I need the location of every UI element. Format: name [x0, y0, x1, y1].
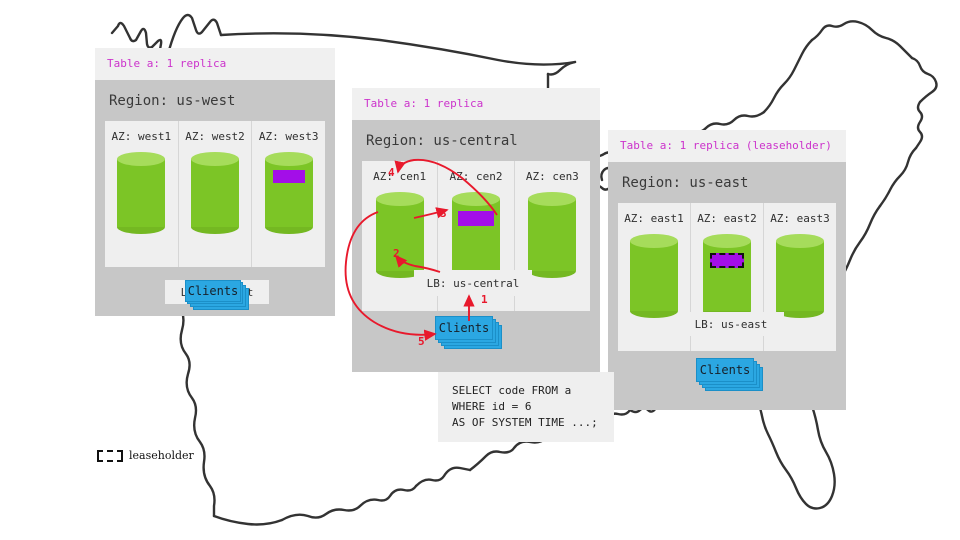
- lb-label-us-central: LB: us-central: [427, 277, 520, 290]
- region-title-us-east: Region: us-east: [608, 162, 846, 203]
- clients-label-us-west: Clients: [188, 284, 239, 298]
- az-label-cen2: AZ: cen2: [450, 170, 503, 183]
- legend-leaseholder: leaseholder: [97, 449, 194, 462]
- replica-block-west3: [273, 170, 305, 183]
- az-cell-west2[interactable]: AZ: west2: [179, 121, 253, 267]
- step-number-5: 5: [418, 335, 425, 348]
- az-label-cen3: AZ: cen3: [526, 170, 579, 183]
- az-label-cen1: AZ: cen1: [373, 170, 426, 183]
- step-number-1: 1: [481, 293, 488, 306]
- leaseholder-swatch-icon: [97, 450, 123, 462]
- node-cylinder-west3[interactable]: [265, 152, 313, 234]
- region-panel-us-east: Table a: 1 replica (leaseholder) Region:…: [608, 130, 846, 410]
- az-label-east3: AZ: east3: [770, 212, 830, 225]
- region-panel-us-west: Table a: 1 replica Region: us-west AZ: w…: [95, 48, 335, 316]
- node-cylinder-east3[interactable]: [776, 234, 824, 318]
- region-title-us-west: Region: us-west: [95, 80, 335, 121]
- legend-label: leaseholder: [129, 449, 194, 462]
- az-row-us-west: AZ: west1 AZ: west2 AZ: [105, 121, 325, 267]
- az-label-west3: AZ: west3: [259, 130, 319, 143]
- diagram-canvas: Table a: 1 replica Region: us-west AZ: w…: [0, 0, 960, 540]
- region-header-us-east: Table a: 1 replica (leaseholder): [608, 130, 846, 162]
- lb-label-us-east: LB: us-east: [695, 318, 768, 331]
- node-cylinder-cen3[interactable]: [528, 192, 576, 278]
- sql-query-text: SELECT code FROM a WHERE id = 6 AS OF SY…: [452, 384, 598, 429]
- node-cylinder-west2[interactable]: [191, 152, 239, 234]
- region-header-us-west: Table a: 1 replica: [95, 48, 335, 80]
- az-label-east1: AZ: east1: [624, 212, 684, 225]
- region-header-us-central: Table a: 1 replica: [352, 88, 600, 120]
- az-label-west1: AZ: west1: [112, 130, 172, 143]
- step-number-3: 3: [440, 207, 447, 220]
- leaseholder-block-east2: [710, 253, 744, 268]
- clients-label-us-east: Clients: [700, 363, 751, 377]
- clients-stack-us-east[interactable]: Clients: [696, 358, 770, 394]
- load-balancer-us-east[interactable]: LB: us-east: [678, 312, 784, 336]
- az-label-east2: AZ: east2: [697, 212, 757, 225]
- az-cell-west1[interactable]: AZ: west1: [105, 121, 179, 267]
- clients-stack-us-west[interactable]: Clients: [185, 280, 255, 314]
- node-cylinder-west1[interactable]: [117, 152, 165, 234]
- region-panel-us-central: Table a: 1 replica Region: us-central AZ…: [352, 88, 600, 372]
- node-cylinder-cen2[interactable]: [452, 192, 500, 278]
- node-cylinder-east2[interactable]: [703, 234, 751, 318]
- node-cylinder-east1[interactable]: [630, 234, 678, 318]
- replica-block-cen2: [458, 211, 494, 226]
- region-title-us-central: Region: us-central: [352, 120, 600, 161]
- step-number-4: 4: [388, 166, 395, 179]
- az-cell-west3[interactable]: AZ: west3: [252, 121, 325, 267]
- clients-label-us-central: Clients: [439, 321, 490, 335]
- sql-query-box: SELECT code FROM a WHERE id = 6 AS OF SY…: [438, 372, 614, 442]
- step-number-2: 2: [393, 247, 400, 260]
- node-cylinder-cen1[interactable]: [376, 192, 424, 278]
- load-balancer-us-central[interactable]: LB: us-central: [414, 270, 532, 296]
- clients-stack-us-central[interactable]: Clients: [435, 316, 509, 352]
- az-label-west2: AZ: west2: [185, 130, 245, 143]
